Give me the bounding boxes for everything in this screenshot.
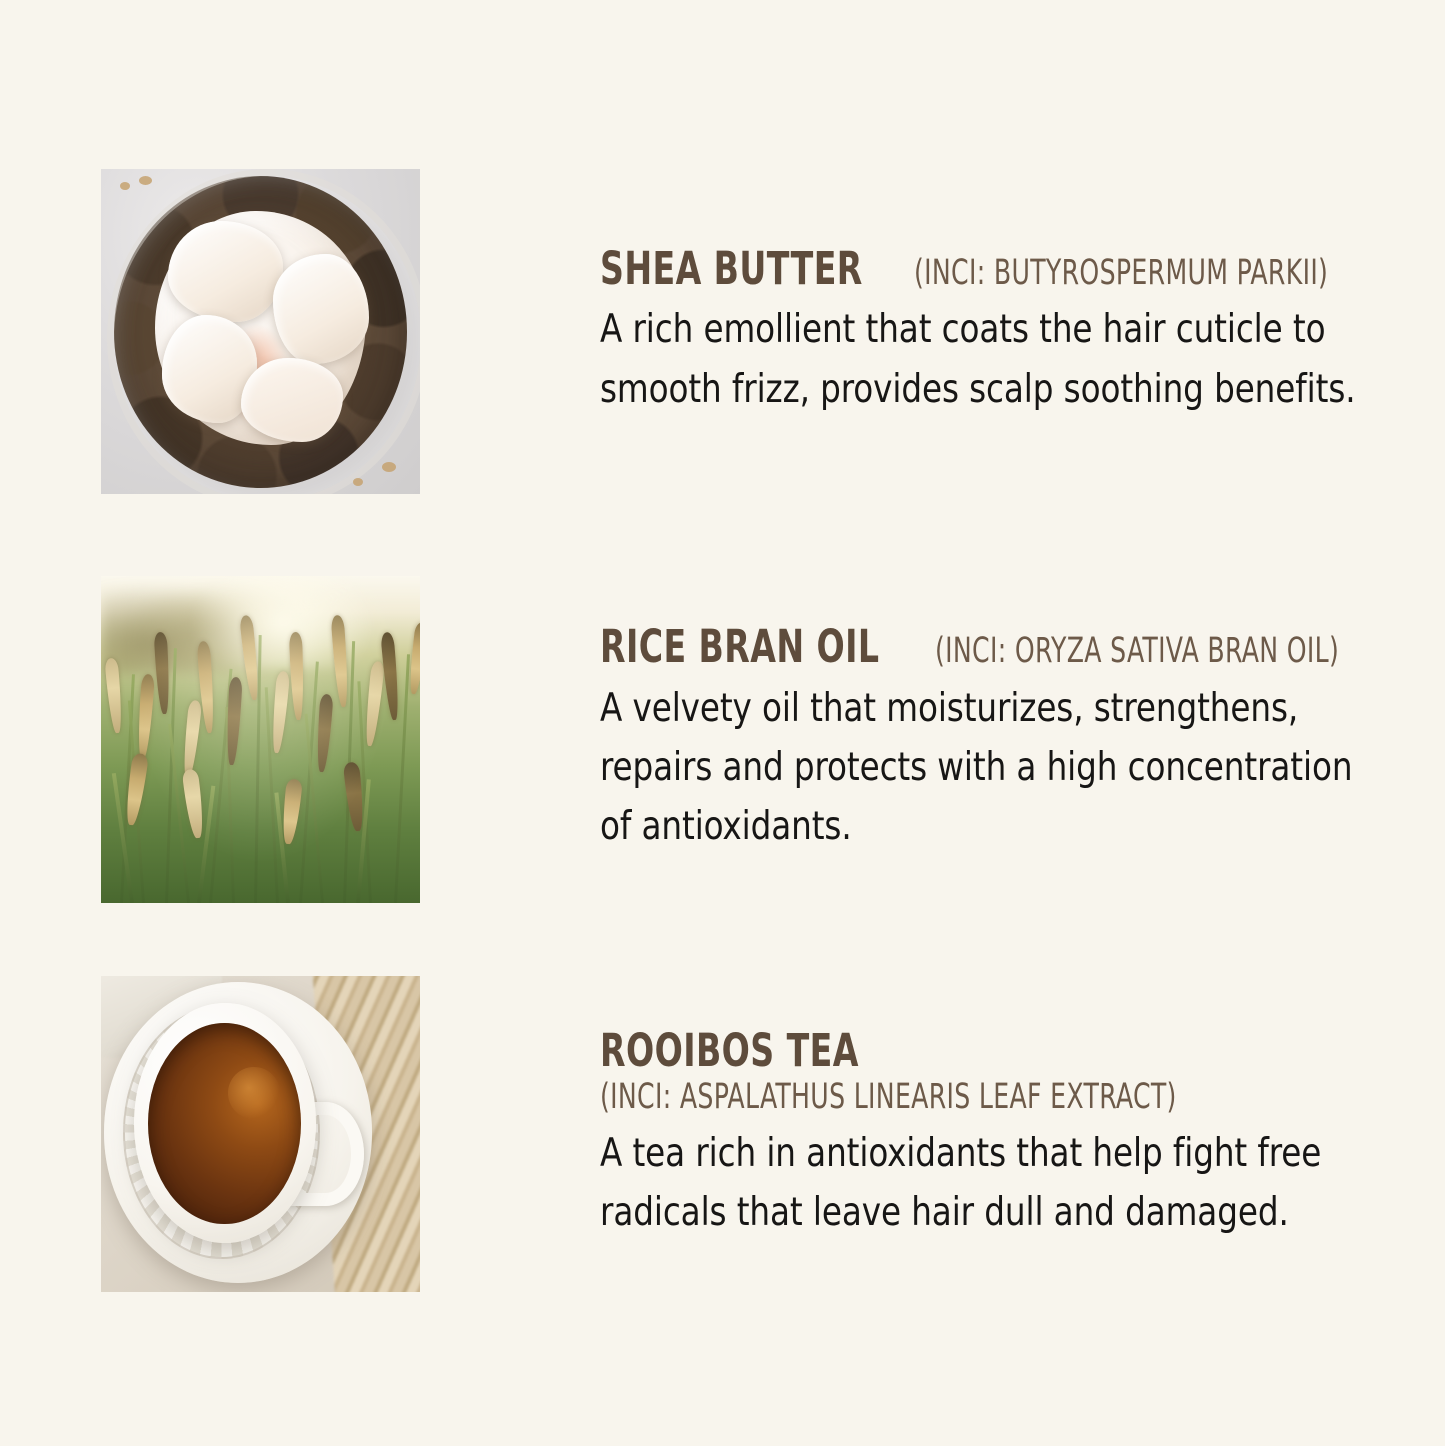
shea-crumb [382, 462, 396, 472]
shea-butter-photo [101, 169, 420, 494]
rice-bran-field-photo [101, 576, 420, 903]
shea-butter-chunk [168, 221, 283, 322]
rooibos-tea-photo [101, 976, 420, 1292]
shea-butter-chunk [241, 358, 343, 443]
shea-butter-heading: SHEA BUTTER(INCI: BUTYROSPERMUM PARKII) [600, 244, 1432, 294]
ingredient-inci: (INCI: ASPALATHUS LINEARIS LEAF EXTRACT) [600, 1078, 1233, 1117]
tea-cup [134, 1003, 316, 1243]
shea-crumb [353, 478, 363, 486]
field-light-veil [101, 576, 420, 903]
rooibos-tea-copy: ROOIBOS TEA (INCI: ASPALATHUS LINEARIS L… [420, 1026, 1391, 1242]
ingredient-inci: (INCI: ORYZA SATIVA BRAN OIL) [935, 632, 1339, 671]
ingredient-description: A tea rich in antioxidants that help fig… [600, 1124, 1336, 1243]
rice-bran-oil-heading: RICE BRAN OIL(INCI: ORYZA SATIVA BRAN OI… [600, 622, 1440, 672]
ingredient-name: RICE BRAN OIL [600, 622, 879, 672]
ingredient-description: A velvety oil that moisturizes, strength… [600, 679, 1381, 857]
rooibos-tea-liquid [148, 1023, 301, 1225]
ingredient-description: A rich emollient that coats the hair cut… [600, 300, 1374, 419]
rooibos-tea-inci-line: (INCI: ASPALATHUS LINEARIS LEAF EXTRACT) [600, 1078, 1391, 1117]
ingredient-name: ROOIBOS TEA [600, 1026, 859, 1076]
ingredient-inci: (INCI: BUTYROSPERMUM PARKII) [914, 254, 1328, 293]
tea-surface-highlight [228, 1067, 280, 1119]
rooibos-tea-heading: ROOIBOS TEA (INCI: ASPALATHUS LINEARIS L… [600, 1026, 1391, 1118]
tea-saucer [104, 982, 372, 1282]
ingredient-row-rooibos-tea: ROOIBOS TEA (INCI: ASPALATHUS LINEARIS L… [101, 976, 1391, 1292]
ingredient-row-rice-bran-oil: RICE BRAN OIL(INCI: ORYZA SATIVA BRAN OI… [101, 576, 1391, 903]
ingredient-row-shea-butter: SHEA BUTTER(INCI: BUTYROSPERMUM PARKII) … [101, 169, 1391, 494]
shea-butter-chunk [273, 254, 369, 365]
ingredient-name: SHEA BUTTER [600, 244, 863, 294]
rice-bran-oil-copy: RICE BRAN OIL(INCI: ORYZA SATIVA BRAN OI… [420, 622, 1440, 856]
rooibos-tea-title-line: ROOIBOS TEA [600, 1026, 1391, 1076]
shea-crumb [139, 176, 152, 185]
shea-butter-copy: SHEA BUTTER(INCI: BUTYROSPERMUM PARKII) … [420, 244, 1432, 419]
ingredient-benefits-infographic: SHEA BUTTER(INCI: BUTYROSPERMUM PARKII) … [0, 0, 1445, 1446]
